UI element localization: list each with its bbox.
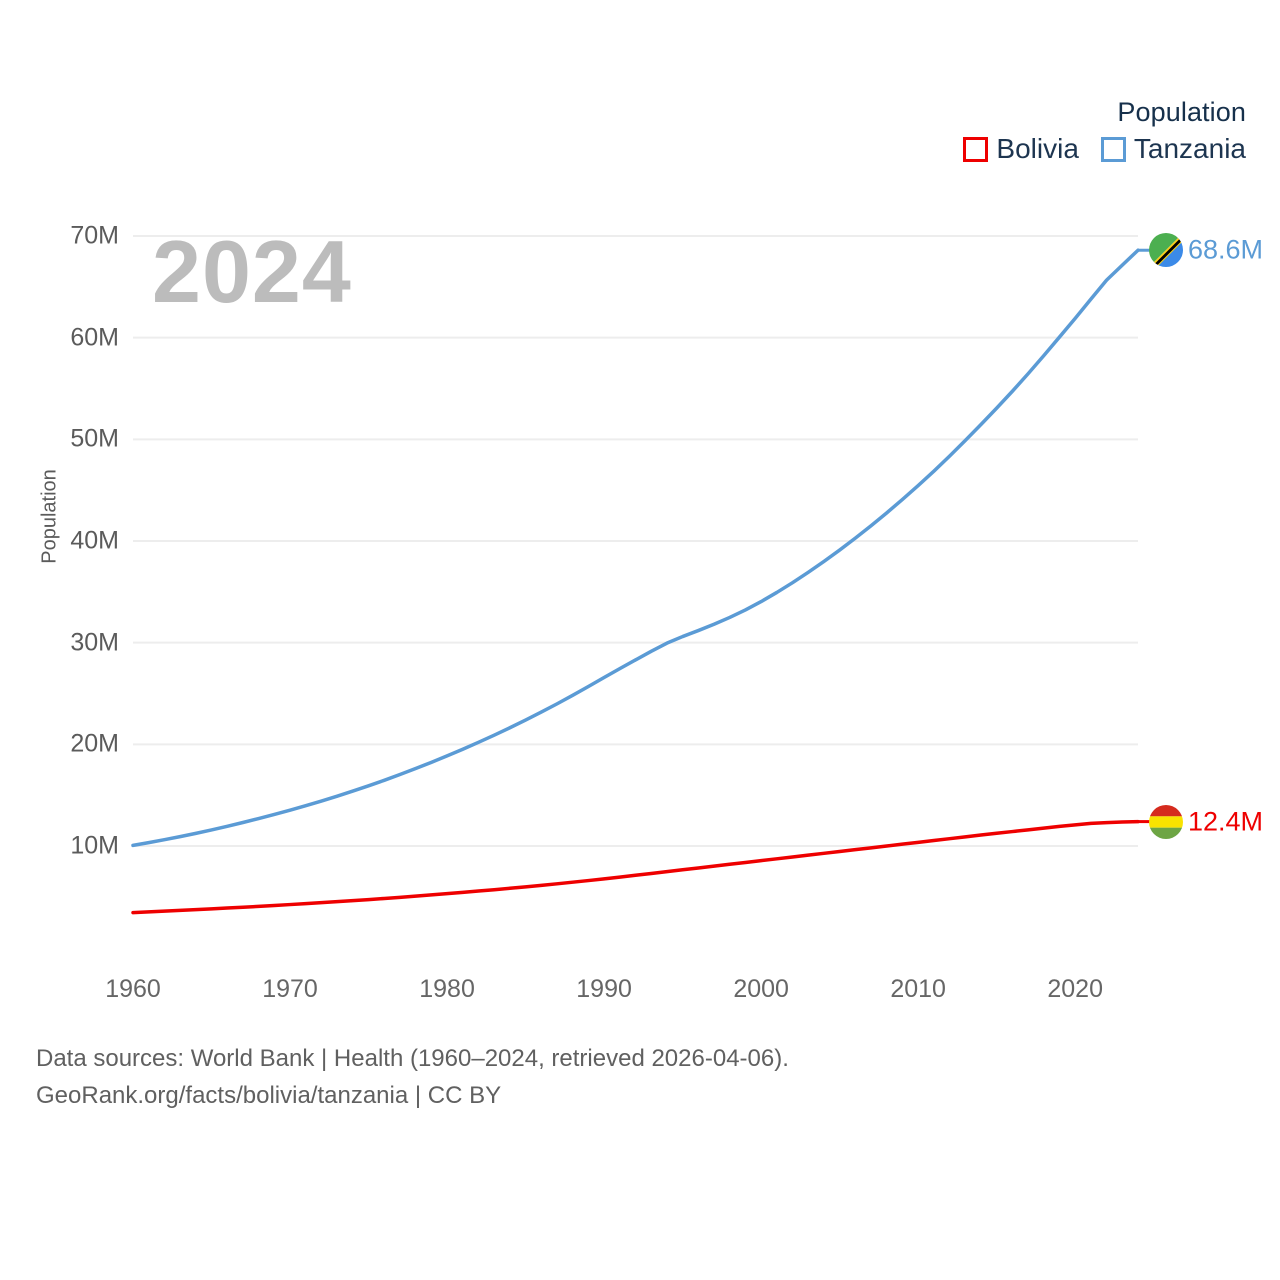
x-axis-tick-label: 1990 <box>534 975 674 1004</box>
bolivia-flag-icon <box>1149 805 1183 839</box>
footer-line-1: Data sources: World Bank | Health (1960–… <box>36 1040 789 1077</box>
chart-footer: Data sources: World Bank | Health (1960–… <box>36 1040 789 1114</box>
y-axis-tick-label: 10M <box>9 832 119 861</box>
x-axis-tick-label: 1980 <box>377 975 517 1004</box>
tanzania-end-label: 68.6M <box>1188 235 1263 266</box>
x-axis-tick-label: 1960 <box>63 975 203 1004</box>
footer-line-2: GeoRank.org/facts/bolivia/tanzania | CC … <box>36 1077 789 1114</box>
chart-page: Population Bolivia Tanzania 2024 Populat… <box>0 0 1280 1280</box>
x-axis-tick-label: 2010 <box>848 975 988 1004</box>
series-lines <box>133 250 1138 912</box>
series-line-tanzania <box>133 250 1138 845</box>
series-line-bolivia <box>133 822 1138 913</box>
tanzania-flag-icon <box>1149 233 1183 267</box>
x-axis-tick-label: 2000 <box>691 975 831 1004</box>
y-axis-tick-label: 60M <box>9 323 119 352</box>
y-axis-tick-label: 40M <box>9 527 119 556</box>
y-axis-tick-label: 50M <box>9 425 119 454</box>
y-axis-tick-label: 30M <box>9 628 119 657</box>
y-axis-tick-label: 20M <box>9 730 119 759</box>
leader-lines <box>1138 250 1152 821</box>
y-axis-tick-label: 70M <box>9 222 119 251</box>
gridlines <box>133 236 1138 846</box>
x-axis-tick-label: 1970 <box>220 975 360 1004</box>
x-axis-tick-label: 2020 <box>1005 975 1145 1004</box>
bolivia-end-label: 12.4M <box>1188 806 1263 837</box>
